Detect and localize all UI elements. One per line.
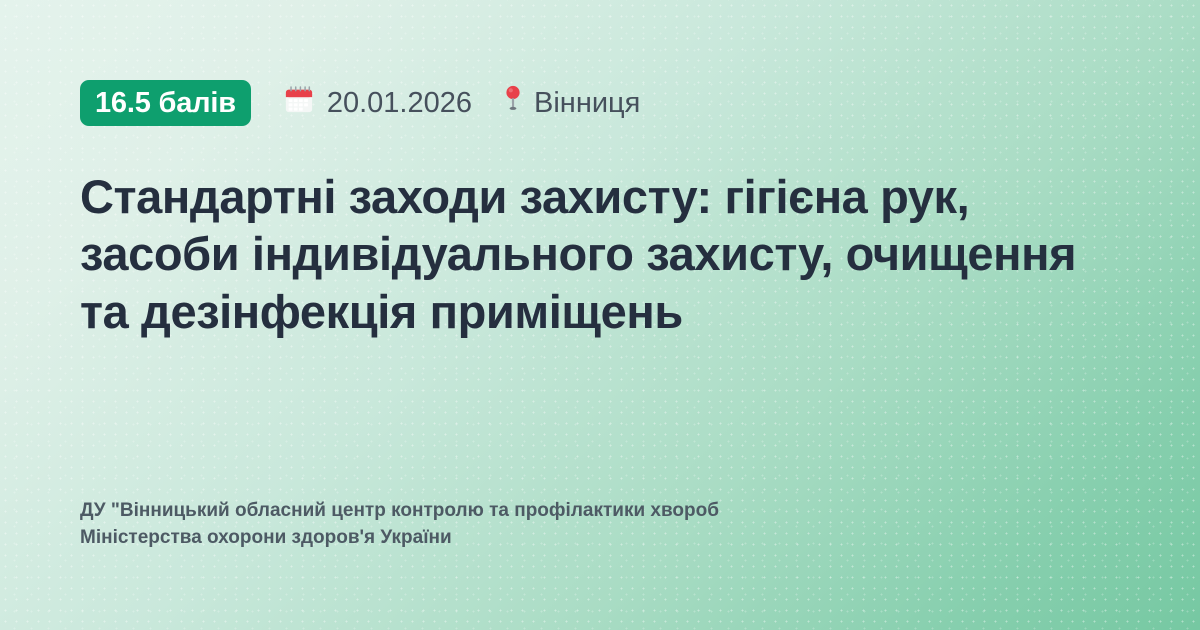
calendar-icon bbox=[284, 84, 314, 122]
location-value: Вінниця bbox=[534, 89, 640, 118]
organisation-line-1: ДУ "Вінницький обласний центр контролю т… bbox=[80, 498, 980, 525]
social-share-card: 16.5 балів bbox=[0, 0, 1200, 630]
score-badge: 16.5 балів bbox=[80, 80, 251, 126]
meta-row: 16.5 балів bbox=[80, 80, 1120, 126]
date-value: 20.01.2026 bbox=[327, 89, 472, 118]
organisation-line-2: Міністерства охорони здоров'я України bbox=[80, 525, 980, 552]
location-meta: Вінниця bbox=[505, 84, 640, 122]
page-title: Стандартні заходи захисту: гігієна рук, … bbox=[80, 168, 1120, 340]
layout-spacer bbox=[80, 340, 1120, 498]
organisation-footer: ДУ "Вінницький обласний центр контролю т… bbox=[80, 498, 980, 552]
date-meta: 20.01.2026 bbox=[284, 84, 472, 122]
map-pin-icon bbox=[505, 84, 521, 122]
card-content: 16.5 балів bbox=[0, 0, 1200, 630]
